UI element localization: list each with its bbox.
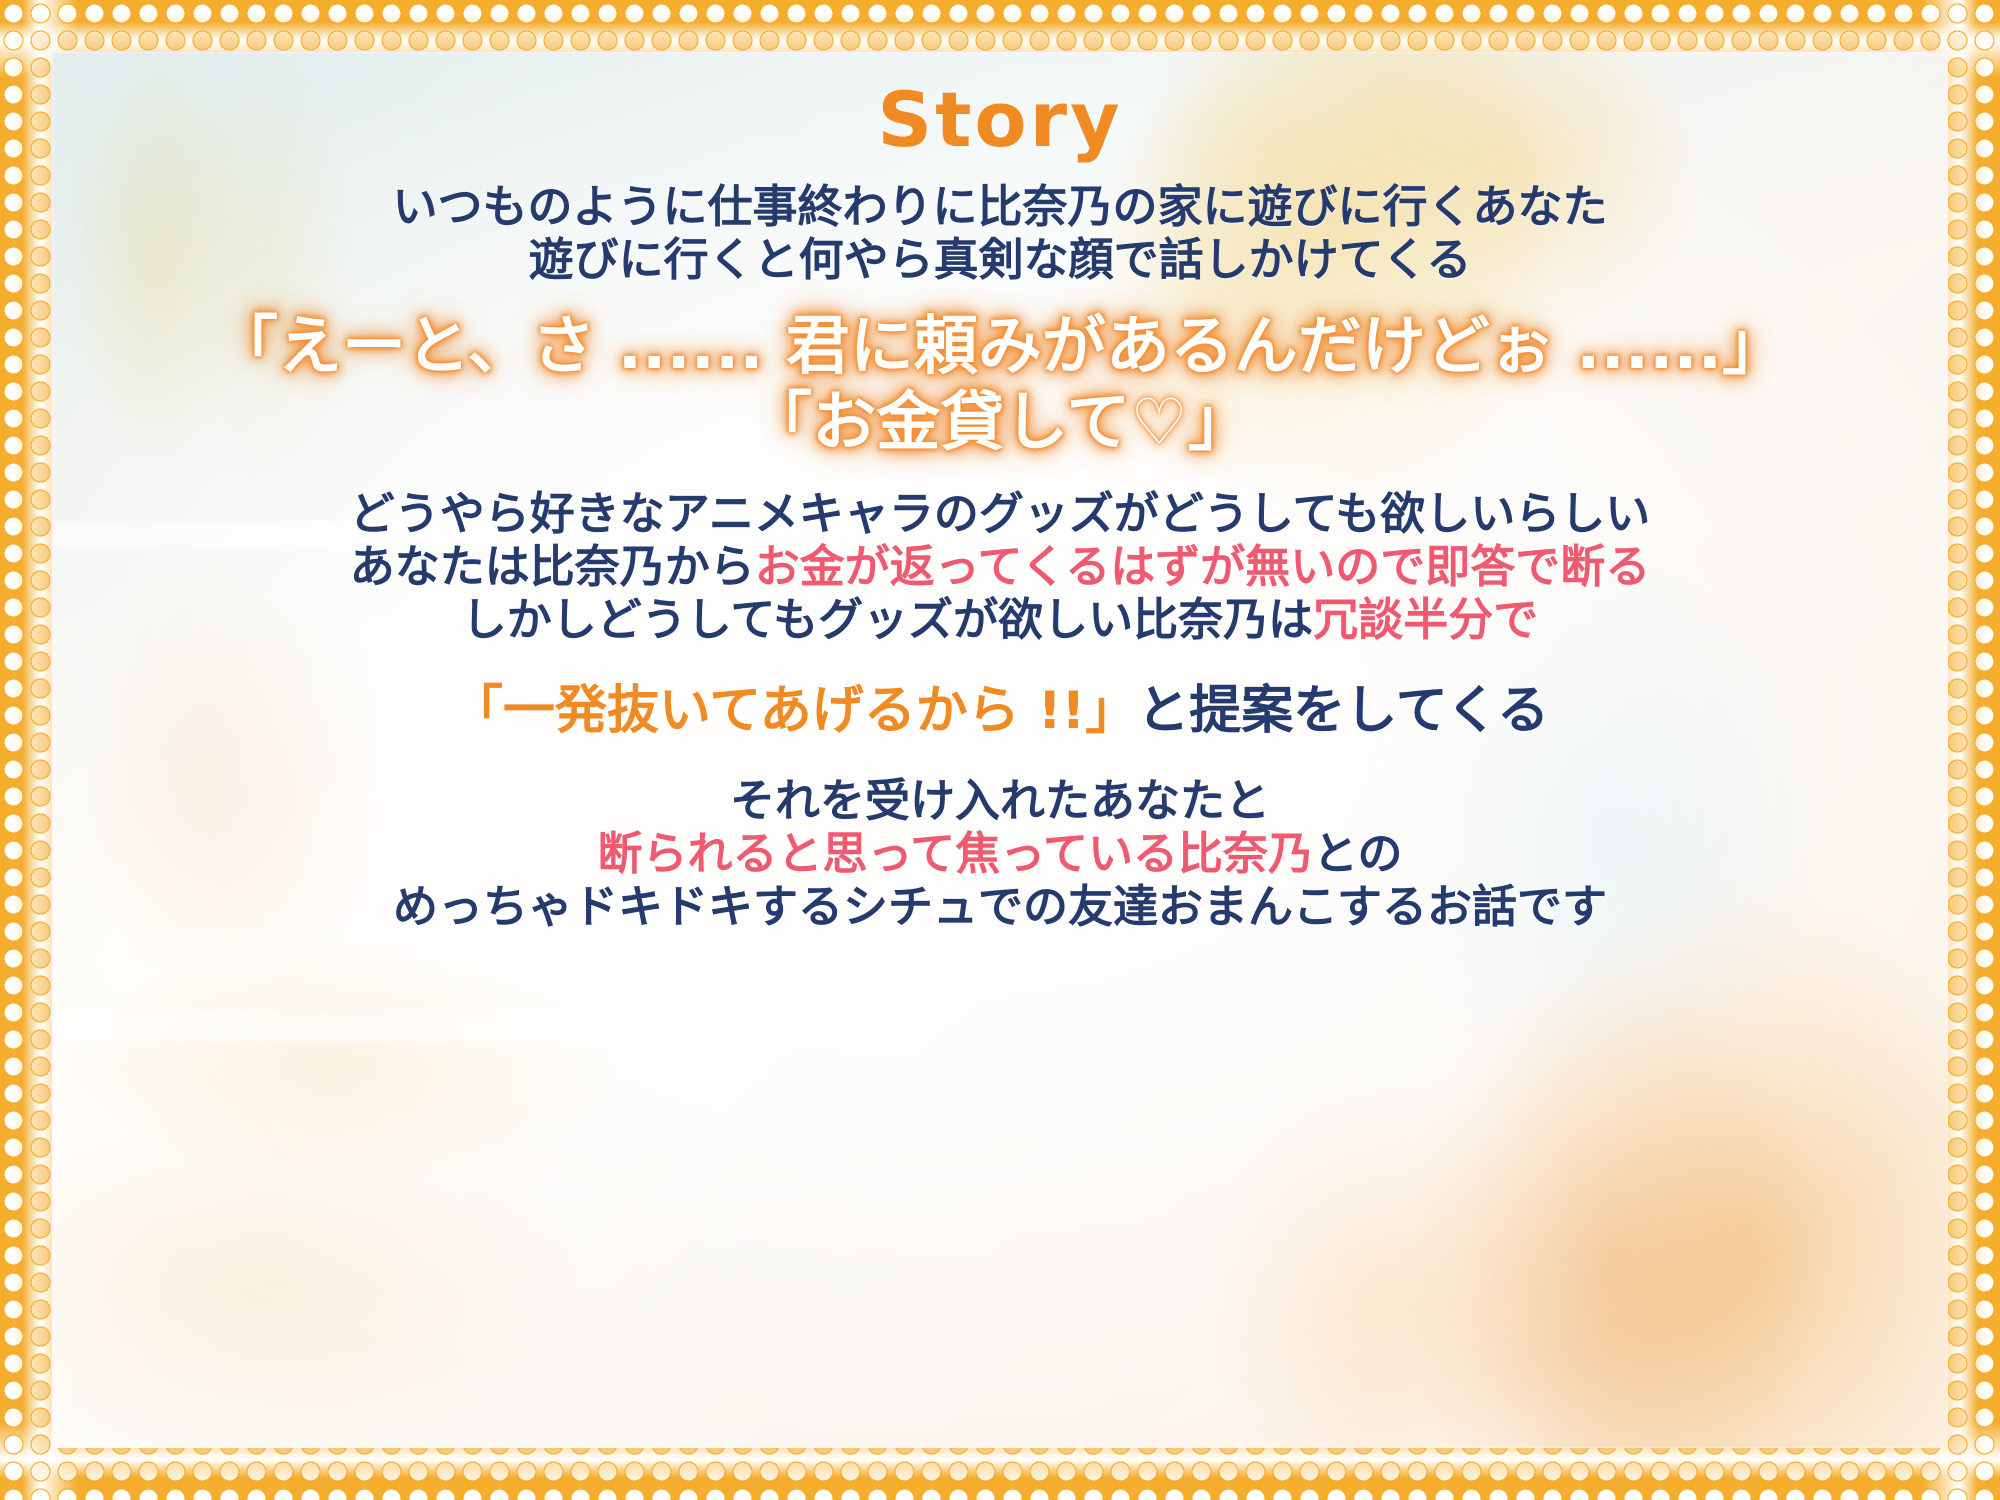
proposal-line: 「一発抜いてあげるから !!」と提案をしてくる (451, 681, 1549, 742)
body-line-2-highlight: お金が返ってくるはずが無いので (755, 540, 1426, 593)
ending-line-1: それを受け入れたあなたと (730, 774, 1270, 827)
body-line-2-segment-c: 即答で断る (1425, 540, 1650, 593)
proposal-tail: と提案をしてくる (1137, 681, 1549, 741)
decorative-frame: Story いつものように仕事終わりに比奈乃の家に遊びに行くあなた 遊びに行くと… (0, 0, 2000, 1500)
body-line-3: しかしどうしてもグッズが欲しい比奈乃は冗談半分で (462, 593, 1538, 646)
body-line-2: あなたは比奈乃からお金が返ってくるはずが無いので即答で断る (350, 540, 1651, 593)
body-line-3-highlight: 冗談半分で (1313, 593, 1538, 646)
intro-line-2: 遊びに行くと何やら真剣な顔で話しかけてくる (529, 233, 1472, 286)
dialogue-line-2: 「お金貸して♡」 (748, 386, 1251, 462)
ending-line-2-highlight: 断られると思って焦っている比奈乃 (597, 827, 1313, 880)
ending-line-3: めっちゃドキドキするシチュでの友達おまんこするお話です (393, 880, 1607, 933)
page-title: Story (877, 82, 1122, 158)
body-line-1: どうやら好きなアニメキャラのグッズがどうしても欲しいらしい (350, 487, 1651, 540)
story-content: Story いつものように仕事終わりに比奈乃の家に遊びに行くあなた 遊びに行くと… (52, 52, 1948, 1448)
ending-line-2-tail: との (1313, 827, 1403, 880)
dialogue-line-1: 「えーと、さ ...... 君に頼みがあるんだけどぉ ......」 (214, 310, 1786, 386)
ending-line-2: 断られると思って焦っている比奈乃との (597, 827, 1402, 880)
body-line-3-segment-a: しかしどうしてもグッズが欲しい比奈乃は (462, 593, 1313, 646)
proposal-quote: 「一発抜いてあげるから !!」 (451, 681, 1137, 741)
body-line-2-segment-a: あなたは比奈乃から (350, 540, 755, 593)
content-stage: Story いつものように仕事終わりに比奈乃の家に遊びに行くあなた 遊びに行くと… (52, 52, 1948, 1448)
intro-line-1: いつものように仕事終わりに比奈乃の家に遊びに行くあなた (392, 180, 1607, 233)
